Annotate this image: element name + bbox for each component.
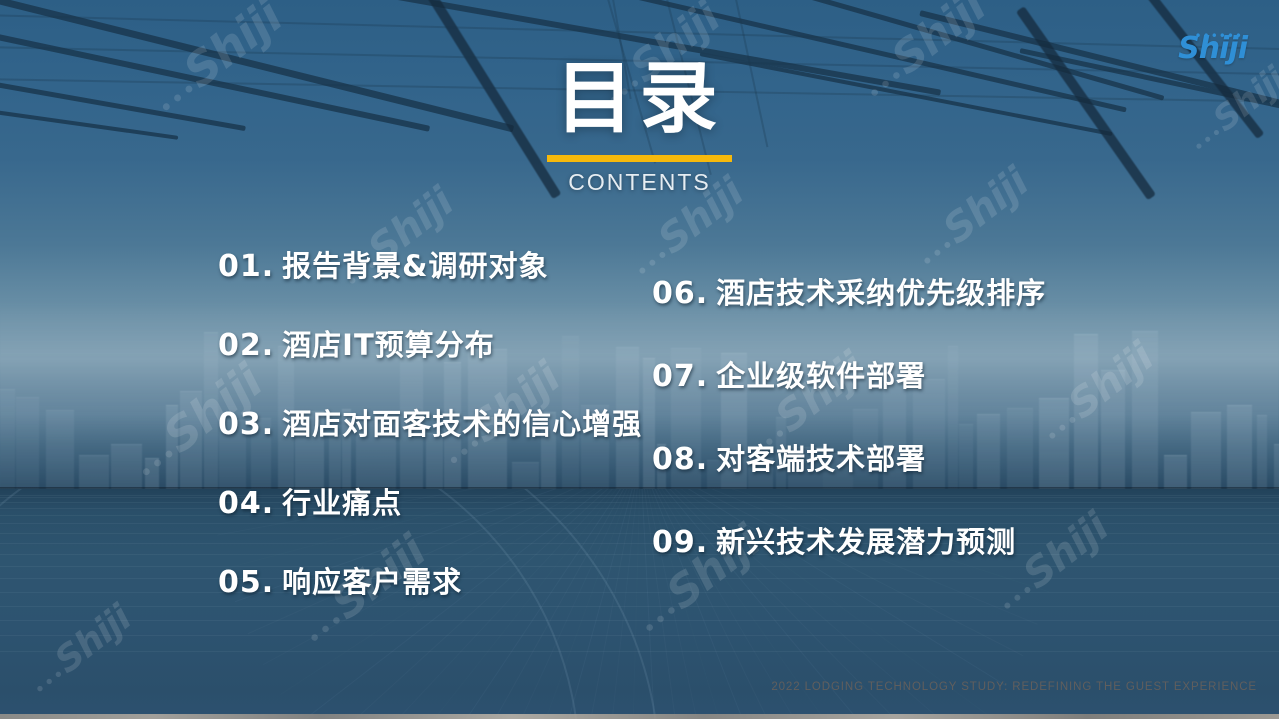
title-block: 目录 CONTENTS [0, 60, 1279, 196]
skyline-building [79, 455, 109, 490]
skyline-building [46, 410, 74, 490]
bottom-light-strip [0, 714, 1279, 719]
toc-item-07[interactable]: 07. 企业级软件部署 [652, 353, 1046, 395]
toc-item-09[interactable]: 09. 新兴技术发展潜力预测 [652, 519, 1046, 561]
toc-item-number: 08. [652, 442, 708, 477]
toc-item-label: 行业痛点 [282, 480, 402, 522]
toc-item-number: 02. [218, 328, 274, 363]
toc-item-number: 04. [218, 486, 274, 521]
skyline-building [16, 397, 39, 490]
toc-item-number: 03. [218, 407, 274, 442]
toc-item-label: 酒店对面客技术的信心增强 [282, 401, 642, 443]
skyline-building [0, 389, 15, 490]
page-title: 目录 [0, 60, 1279, 138]
toc-item-01[interactable]: 01. 报告背景&调研对象 [218, 243, 642, 285]
toc-item-06[interactable]: 06. 酒店技术采纳优先级排序 [652, 270, 1046, 312]
toc-item-label: 对客端技术部署 [716, 436, 926, 478]
toc-right-column: 06. 酒店技术采纳优先级排序 07. 企业级软件部署 08. 对客端技术部署 … [652, 270, 1046, 602]
toc-item-03[interactable]: 03. 酒店对面客技术的信心增强 [218, 401, 642, 443]
toc-item-label: 企业级软件部署 [716, 353, 926, 395]
presentation-slide: •••Shiji•••Shiji•••Shiji•••Shiji•••Shiji… [0, 0, 1279, 719]
toc-item-number: 09. [652, 525, 708, 560]
logo-dots-icon: •••••• [1195, 30, 1243, 42]
skyline-building [1274, 444, 1279, 490]
footer-note: 2022 LODGING TECHNOLOGY STUDY: REDEFININ… [771, 681, 1257, 693]
toc-item-label: 酒店技术采纳优先级排序 [716, 270, 1046, 312]
toc-item-08[interactable]: 08. 对客端技术部署 [652, 436, 1046, 478]
toc-item-05[interactable]: 05. 响应客户需求 [218, 559, 642, 601]
skyline-building [1191, 412, 1221, 490]
title-underline-rule [547, 155, 732, 162]
toc-item-label: 酒店IT预算分布 [282, 322, 495, 364]
toc-item-number: 07. [652, 359, 708, 394]
skyline-building [1164, 455, 1187, 490]
skyline-building [1257, 415, 1267, 490]
toc-item-number: 01. [218, 249, 274, 284]
skyline-building [1227, 405, 1252, 490]
page-subtitle: CONTENTS [0, 169, 1279, 196]
toc-item-label: 报告背景&调研对象 [282, 243, 548, 285]
toc-item-02[interactable]: 02. 酒店IT预算分布 [218, 322, 642, 364]
toc-item-label: 新兴技术发展潜力预测 [716, 519, 1016, 561]
shiji-logo: •••••• Shiji [1178, 34, 1247, 64]
toc-item-04[interactable]: 04. 行业痛点 [218, 480, 642, 522]
toc-left-column: 01. 报告背景&调研对象 02. 酒店IT预算分布 03. 酒店对面客技术的信… [218, 243, 642, 638]
toc-item-number: 06. [652, 276, 708, 311]
toc-item-label: 响应客户需求 [282, 559, 462, 601]
toc-item-number: 05. [218, 565, 274, 600]
